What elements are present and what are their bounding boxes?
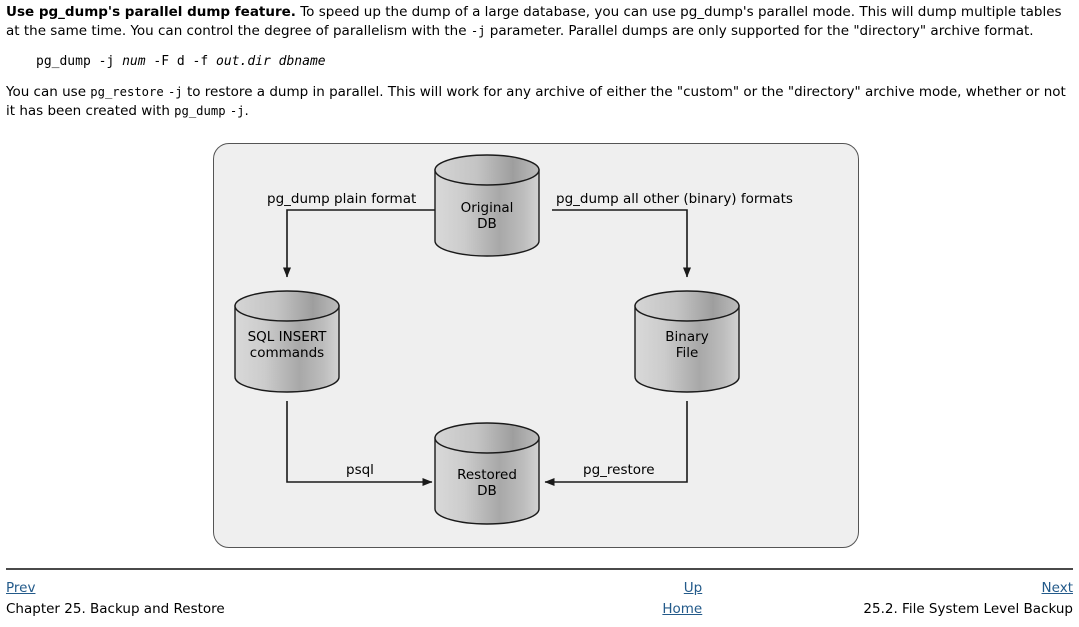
code-command: pg_dump -j: [36, 54, 122, 69]
inline-code-j: -j: [471, 24, 486, 38]
inline-code-j-restore: -j: [168, 85, 183, 99]
edge-plain-format: [287, 210, 436, 277]
node-binary-file: [635, 291, 739, 392]
code-arg-num: num: [122, 54, 145, 69]
inline-code-j-dump: -j: [230, 104, 245, 118]
paragraph-parallel-dump: Use pg_dump's parallel dump feature. To …: [6, 3, 1073, 40]
nav-next-link[interactable]: Next: [1042, 578, 1073, 599]
nav-prev-link[interactable]: Prev: [6, 578, 35, 599]
page-navigation: Prev Chapter 25. Backup and Restore Up H…: [6, 578, 1073, 619]
nav-next-title: 25.2. File System Level Backup: [863, 599, 1073, 620]
p2-text-a: You can use: [6, 84, 90, 100]
inline-code-pg-restore: pg_restore: [90, 85, 163, 99]
code-arg-outdir: out.dir: [216, 54, 271, 69]
nav-up-column: Up Home: [362, 578, 718, 619]
nav-next-column: Next 25.2. File System Level Backup: [717, 578, 1073, 619]
node-restored-db: [435, 423, 539, 524]
edge-label-plain-format: pg_dump plain format: [267, 191, 416, 207]
article-body: Use pg_dump's parallel dump feature. To …: [6, 3, 1073, 121]
nav-prev-column: Prev Chapter 25. Backup and Restore: [6, 578, 362, 619]
edge-label-binary-format: pg_dump all other (binary) formats: [556, 191, 793, 207]
code-arg-dbname: dbname: [279, 54, 326, 69]
inline-code-pg-dump: pg_dump: [174, 104, 225, 118]
code-example-pg-dump: pg_dump -j num -F d -f out.dir dbname: [36, 54, 1073, 69]
node-original-db: [435, 155, 539, 256]
edge-label-psql: psql: [346, 462, 374, 478]
footer-divider: [6, 568, 1073, 570]
edge-binary-format: [552, 210, 687, 277]
edge-label-pg-restore: pg_restore: [583, 462, 655, 478]
paragraph-text-b: parameter. Parallel dumps are only suppo…: [486, 23, 1034, 39]
nav-up-link[interactable]: Up: [684, 578, 702, 599]
p2-text-e: .: [245, 103, 249, 119]
node-sql-insert: [235, 291, 339, 392]
paragraph-pg-restore: You can use pg_restore -j to restore a d…: [6, 83, 1073, 120]
nav-home-link[interactable]: Home: [662, 599, 702, 620]
paragraph-lead: Use pg_dump's parallel dump feature.: [6, 4, 296, 20]
backup-restore-diagram: Original DB SQL INSERT commands Binary F…: [213, 143, 859, 548]
nav-prev-title: Chapter 25. Backup and Restore: [6, 599, 225, 620]
code-mid: -F d -f: [146, 54, 216, 69]
code-space: [271, 54, 279, 69]
